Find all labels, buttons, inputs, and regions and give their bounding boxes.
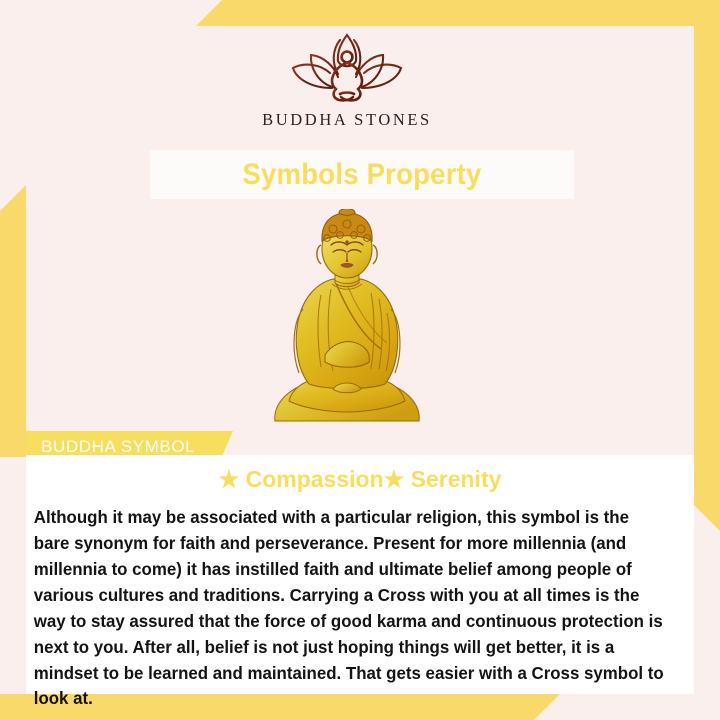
decor-right-strip [694,26,720,531]
description-card: ★ Compassion★ Serenity Although it may b… [26,455,694,694]
lotus-meditation-icon [288,30,406,106]
category-label: BUDDHA SYMBOL [26,437,195,457]
page-title: Symbols Property [242,158,481,192]
brand-logo: BUDDHA STONES [0,30,694,130]
page-title-banner: Symbols Property [150,150,574,199]
golden-seated-buddha-statue-icon [259,209,435,427]
decor-top-band [196,0,720,26]
brand-name: BUDDHA STONES [262,110,432,130]
header-section: BUDDHA STONES Symbols Property [0,26,694,455]
description-paragraph: Although it may be associated with a par… [26,493,674,712]
infographic-page: BUDDHA STONES Symbols Property [0,0,720,720]
attributes-heading: ★ Compassion★ Serenity [26,455,694,493]
